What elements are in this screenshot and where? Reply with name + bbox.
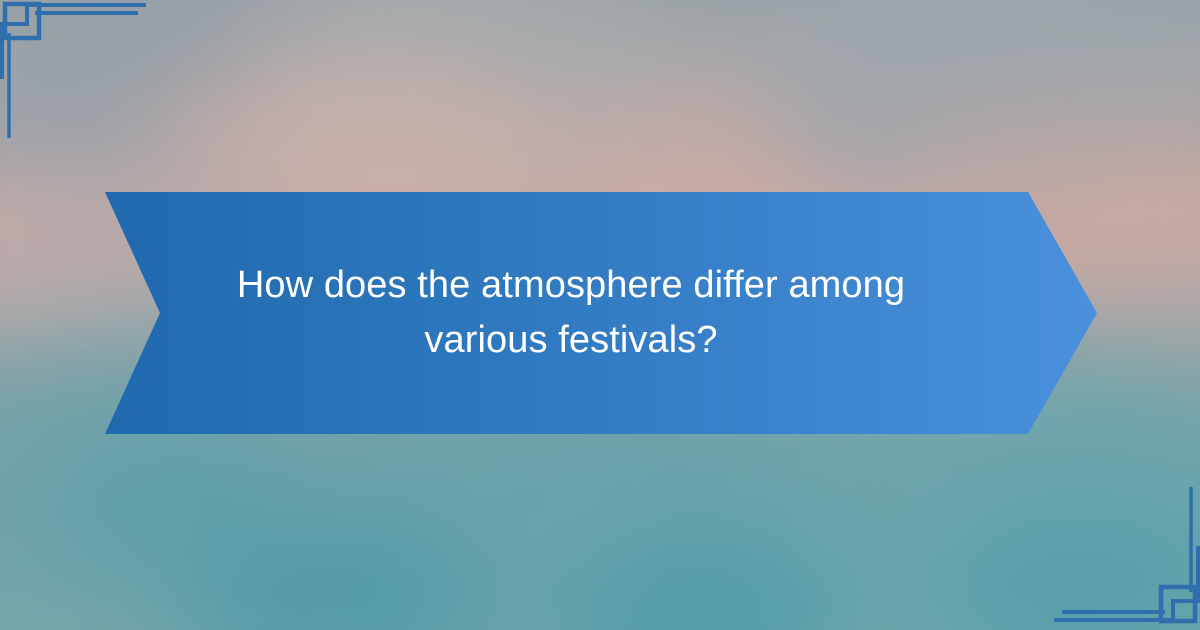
banner-question-text: How does the atmosphere differ among var… <box>165 192 977 434</box>
corner-ornament-bottom-right-icon <box>1040 465 1200 625</box>
banner-question-line-2: various festivals? <box>424 313 717 368</box>
corner-ornament-bottom-right <box>1040 465 1200 630</box>
corner-ornament-top-left <box>0 0 160 165</box>
slide-canvas: How does the atmosphere differ among var… <box>0 0 1200 630</box>
question-banner: How does the atmosphere differ among var… <box>105 192 1097 434</box>
corner-ornament-top-left-icon <box>0 0 160 160</box>
banner-question-line-1: How does the atmosphere differ among <box>237 258 905 313</box>
